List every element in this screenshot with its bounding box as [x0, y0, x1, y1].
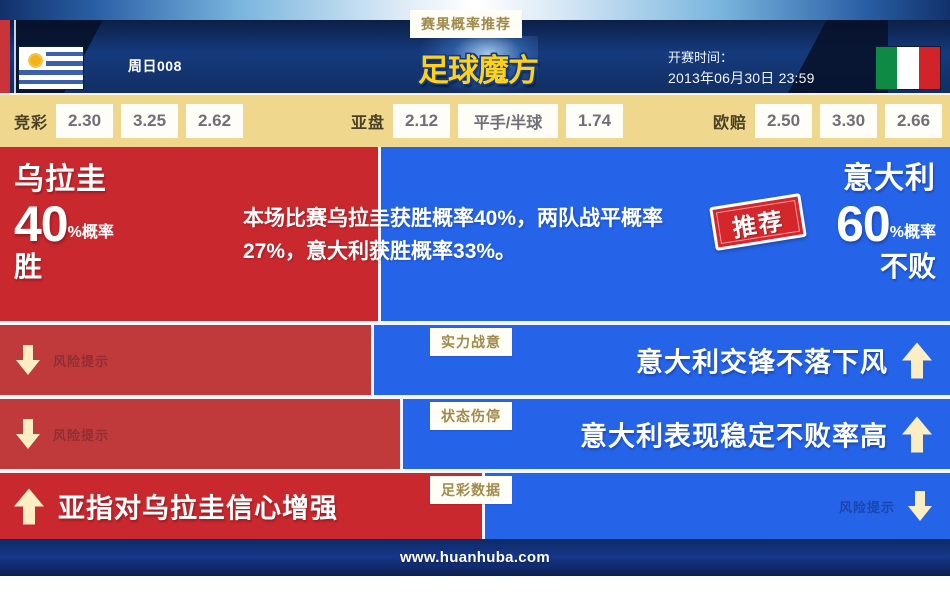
- row2-divider: [400, 399, 403, 469]
- row1-away-statement: 意大利交锋不落下风: [636, 341, 932, 380]
- away-outcome: 不败: [836, 251, 936, 283]
- arrow-down-icon: [16, 419, 40, 449]
- header-red-accent: [0, 20, 10, 93]
- away-probability-value: 60: [836, 196, 890, 252]
- home-probability-value: 40: [14, 196, 68, 252]
- probability-description: 本场比赛乌拉圭获胜概率40%，两队战平概率27%，意大利获胜概率33%。: [243, 202, 673, 268]
- kickoff-block: 开赛时间： 2013年06月30日 23:59: [668, 48, 815, 88]
- bottom-margin: [0, 576, 950, 594]
- row3-away-risk: 风险提示: [839, 491, 932, 521]
- row2-away-text: 意大利表现稳定不败率高: [580, 415, 888, 454]
- row2-away-statement: 意大利表现稳定不败率高: [580, 415, 932, 454]
- tag-result-probability: 赛果概率推荐: [410, 10, 522, 38]
- row3-away-risk-label: 风险提示: [839, 497, 895, 516]
- odds-cell[interactable]: 2.30: [56, 104, 113, 138]
- row2-home-risk: 风险提示: [16, 419, 109, 449]
- odds-group-yapan: 亚盘 2.12 平手/半球 1.74: [351, 104, 623, 138]
- away-summary: 意大利 60%概率 不败: [836, 161, 936, 283]
- odds-cell[interactable]: 2.62: [186, 104, 243, 138]
- row1-divider: [371, 325, 374, 395]
- home-percent-sign: %: [68, 224, 82, 241]
- recommend-stamp-text: 推荐: [730, 201, 787, 244]
- row3-home-statement: 亚指对乌拉圭信心增强: [14, 487, 338, 526]
- odds-cell[interactable]: 3.25: [121, 104, 178, 138]
- odds-cell[interactable]: 2.50: [755, 104, 812, 138]
- arrow-up-icon: [14, 488, 44, 524]
- row1-home-risk: 风险提示: [16, 345, 109, 375]
- tag-lottery-data: 足彩数据: [430, 476, 512, 504]
- odds-cell[interactable]: 2.12: [393, 104, 450, 138]
- footer-bar: www.huanhuba.com: [0, 539, 950, 576]
- arrow-down-icon: [16, 345, 40, 375]
- kickoff-value: 2013年06月30日 23:59: [668, 68, 815, 88]
- row1-away-text: 意大利交锋不落下风: [636, 341, 888, 380]
- away-probability-suffix: 概率: [904, 224, 936, 241]
- kickoff-label: 开赛时间：: [668, 48, 815, 68]
- odds-cell[interactable]: 3.30: [820, 104, 877, 138]
- home-outcome: 胜: [14, 251, 114, 283]
- match-number: 周日008: [128, 56, 182, 76]
- arrow-down-icon: [908, 491, 932, 521]
- odds-label-yapan: 亚盘: [351, 109, 385, 133]
- odds-label-jingcai: 竞彩: [14, 109, 48, 133]
- row1-home-risk-label: 风险提示: [53, 351, 109, 370]
- uruguay-flag-icon: [18, 46, 84, 90]
- site-logo: 足球魔方: [398, 40, 558, 93]
- away-percent-sign: %: [890, 224, 904, 241]
- odds-cell[interactable]: 1.74: [566, 104, 623, 138]
- tag-status-injury: 状态伤停: [430, 402, 512, 430]
- infographic-root: 周日008 足球魔方 开赛时间： 2013年06月30日 23:59 竞彩 2.…: [0, 0, 950, 594]
- odds-bar: 竞彩 2.30 3.25 2.62 亚盘 2.12 平手/半球 1.74 欧赔 …: [0, 93, 950, 147]
- odds-cell-handicap[interactable]: 平手/半球: [458, 104, 558, 138]
- home-probability-suffix: 概率: [82, 224, 114, 241]
- odds-group-jingcai: 竞彩 2.30 3.25 2.62: [14, 104, 243, 138]
- home-team-name: 乌拉圭: [14, 163, 114, 197]
- away-team-name: 意大利: [836, 161, 936, 197]
- row3-home-text: 亚指对乌拉圭信心增强: [58, 487, 338, 526]
- home-summary: 乌拉圭 40%概率 胜: [14, 163, 114, 283]
- site-logo-text: 足球魔方: [418, 45, 538, 90]
- arrow-up-icon: [902, 416, 932, 452]
- odds-group-oupei: 欧赔 2.50 3.30 2.66: [713, 104, 942, 138]
- arrow-up-icon: [902, 342, 932, 378]
- sun-of-may-icon: [27, 52, 44, 69]
- tag-strength-intent: 实力战意: [430, 328, 512, 356]
- footer-site-url[interactable]: www.huanhuba.com: [400, 549, 550, 566]
- odds-label-oupei: 欧赔: [713, 109, 747, 133]
- odds-cell[interactable]: 2.66: [885, 104, 942, 138]
- italy-flag-icon: [875, 46, 941, 90]
- row2-home-risk-label: 风险提示: [53, 425, 109, 444]
- probability-panel: 乌拉圭 40%概率 胜 本场比赛乌拉圭获胜概率40%，两队战平概率27%，意大利…: [0, 147, 950, 321]
